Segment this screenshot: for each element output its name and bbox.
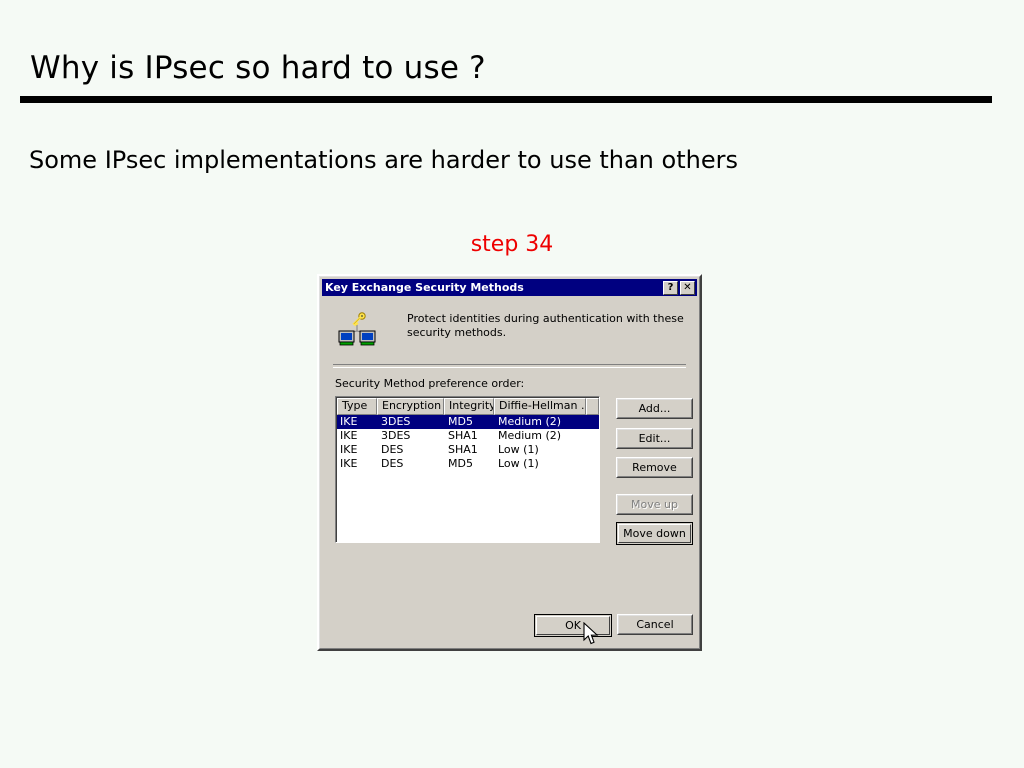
list-label: Security Method preference order: bbox=[335, 377, 524, 390]
cell-diffie-hellman: Low (1) bbox=[494, 457, 586, 471]
cell-encryption: DES bbox=[377, 443, 444, 457]
table-row[interactable]: IKE DES SHA1 Low (1) bbox=[337, 443, 599, 457]
column-header-diffie-hellman[interactable]: Diffie-Hellman ... bbox=[494, 398, 586, 415]
remove-button-label: Remove bbox=[617, 458, 692, 477]
cell-integrity: MD5 bbox=[444, 415, 494, 429]
dialog-inner-bevel: Key Exchange Security Methods ? ✕ bbox=[319, 276, 700, 649]
close-icon[interactable]: ✕ bbox=[680, 281, 695, 295]
cell-diffie-hellman: Medium (2) bbox=[494, 415, 586, 429]
add-button[interactable]: Add... bbox=[616, 398, 693, 419]
slide-subtitle: Some IPsec implementations are harder to… bbox=[29, 146, 738, 174]
add-button-label: Add... bbox=[617, 399, 692, 418]
cancel-button-label: Cancel bbox=[618, 615, 692, 634]
cell-integrity: SHA1 bbox=[444, 443, 494, 457]
step-label: step 34 bbox=[0, 232, 1024, 257]
table-row[interactable]: IKE DES MD5 Low (1) bbox=[337, 457, 599, 471]
cell-encryption: 3DES bbox=[377, 415, 444, 429]
header-separator bbox=[333, 364, 686, 368]
move-down-button-label: Move down bbox=[618, 524, 691, 543]
key-exchange-security-methods-dialog: Key Exchange Security Methods ? ✕ bbox=[317, 274, 702, 651]
page-title: Why is IPsec so hard to use ? bbox=[30, 50, 486, 86]
table-row[interactable]: IKE 3DES SHA1 Medium (2) bbox=[337, 429, 599, 443]
key-exchange-computers-icon bbox=[337, 311, 377, 347]
cell-diffie-hellman: Medium (2) bbox=[494, 429, 586, 443]
cell-type: IKE bbox=[337, 443, 377, 457]
dialog-description: Protect identities during authentication… bbox=[407, 312, 697, 340]
ok-button[interactable]: OK bbox=[534, 614, 612, 637]
column-header-integrity[interactable]: Integrity bbox=[444, 398, 494, 415]
move-up-button: Move up bbox=[616, 494, 693, 515]
move-up-button-label: Move up bbox=[617, 495, 692, 514]
listview-inner: Type Encryption Integrity Diffie-Hellman… bbox=[336, 397, 599, 542]
remove-button[interactable]: Remove bbox=[616, 457, 693, 478]
dialog-header: Protect identities during authentication… bbox=[332, 307, 687, 359]
column-header-filler bbox=[586, 398, 599, 415]
dialog-title: Key Exchange Security Methods bbox=[322, 281, 663, 294]
cell-integrity: MD5 bbox=[444, 457, 494, 471]
title-divider bbox=[20, 96, 992, 103]
cell-encryption: 3DES bbox=[377, 429, 444, 443]
ok-button-label: OK bbox=[536, 616, 610, 635]
security-methods-listview[interactable]: Type Encryption Integrity Diffie-Hellman… bbox=[335, 396, 600, 543]
edit-button-label: Edit... bbox=[617, 429, 692, 448]
column-header-type[interactable]: Type bbox=[337, 398, 377, 415]
cell-type: IKE bbox=[337, 415, 377, 429]
table-row[interactable]: IKE 3DES MD5 Medium (2) bbox=[337, 415, 599, 429]
cancel-button[interactable]: Cancel bbox=[617, 614, 693, 635]
cell-type: IKE bbox=[337, 429, 377, 443]
cell-integrity: SHA1 bbox=[444, 429, 494, 443]
cell-diffie-hellman: Low (1) bbox=[494, 443, 586, 457]
edit-button[interactable]: Edit... bbox=[616, 428, 693, 449]
cell-encryption: DES bbox=[377, 457, 444, 471]
cell-type: IKE bbox=[337, 457, 377, 471]
listview-header-row: Type Encryption Integrity Diffie-Hellman… bbox=[337, 398, 599, 415]
dialog-title-bar[interactable]: Key Exchange Security Methods ? ✕ bbox=[322, 279, 697, 296]
move-down-button[interactable]: Move down bbox=[616, 522, 693, 545]
column-header-encryption[interactable]: Encryption bbox=[377, 398, 444, 415]
help-icon[interactable]: ? bbox=[663, 281, 678, 295]
